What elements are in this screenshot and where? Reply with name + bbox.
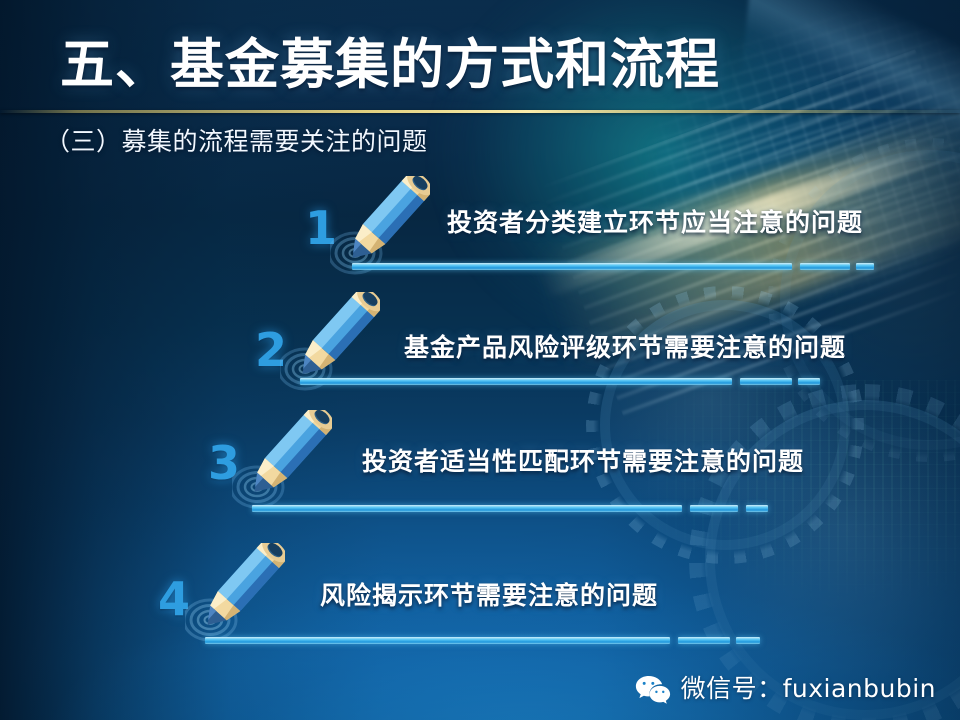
pencil-icon — [232, 410, 332, 512]
list-item-text: 投资者适当性匹配环节需要注意的问题 — [362, 446, 804, 478]
list-item-text: 风险揭示环节需要注意的问题 — [320, 580, 658, 612]
list-item-underline — [205, 637, 765, 644]
list-item-underline — [252, 505, 772, 512]
title-divider — [0, 110, 960, 113]
presentation-slide: 五、基金募集的方式和流程 （三）募集的流程需要关注的问题 1 — [0, 0, 960, 720]
wechat-icon — [635, 674, 671, 704]
page-subtitle: （三）募集的流程需要关注的问题 — [45, 126, 428, 158]
list-item-underline — [300, 378, 820, 385]
page-title: 五、基金募集的方式和流程 — [60, 33, 720, 95]
footer-wechat-id: 微信号：fuxianbubin — [681, 674, 936, 704]
pencil-icon — [185, 543, 285, 645]
list-item-underline — [352, 263, 872, 270]
list-item-text: 基金产品风险评级环节需要注意的问题 — [404, 332, 846, 364]
footer-wechat: 微信号：fuxianbubin — [635, 674, 936, 704]
list-item-text: 投资者分类建立环节应当注意的问题 — [447, 207, 863, 239]
